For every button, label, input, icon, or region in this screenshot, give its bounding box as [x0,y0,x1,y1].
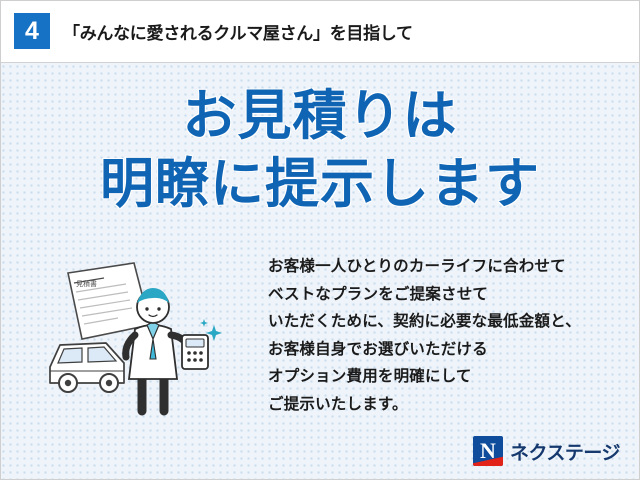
paragraph-line: お客様自身でお選びいただける [268,336,581,364]
brand-logo: N ネクステージ [473,436,620,466]
illustration-svg: 見積書 [38,259,260,417]
headline-line-1: お見積りは [0,85,640,149]
body-paragraph: お客様一人ひとりのカーライフに合わせて ベストなプランをご提案させて いただくた… [268,253,581,418]
logo-text: ネクステージ [510,438,620,465]
logo-letter: N [473,436,503,466]
header-title: 「みんなに愛されるクルマ屋さん」を目指して [63,19,413,44]
slide-root: 4 「みんなに愛されるクルマ屋さん」を目指して お見積りは 明瞭に提示します お… [0,0,640,480]
paragraph-line: オプション費用を明確にして [268,363,581,391]
slide-header: 4 「みんなに愛されるクルマ屋さん」を目指して [0,0,640,62]
illustration: 見積書 [38,259,260,417]
logo-mark-icon: N [473,436,503,466]
headline: お見積りは 明瞭に提示します [0,85,640,216]
paragraph-line: お客様一人ひとりのカーライフに合わせて [268,253,581,281]
slide-body: お見積りは 明瞭に提示します お客様一人ひとりのカーライフに合わせて ベストなプ… [0,63,640,480]
section-number-badge: 4 [14,13,50,49]
paragraph-line: ベストなプランをご提案させて [268,281,581,309]
headline-line-2: 明瞭に提示します [0,153,640,217]
salesperson-icon [126,288,222,411]
document-label: 見積書 [76,279,97,288]
paragraph-line: いただくために、契約に必要な最低金額と、 [268,308,581,336]
van-icon [50,343,124,392]
paragraph-line: ご提示いたします。 [268,391,581,419]
